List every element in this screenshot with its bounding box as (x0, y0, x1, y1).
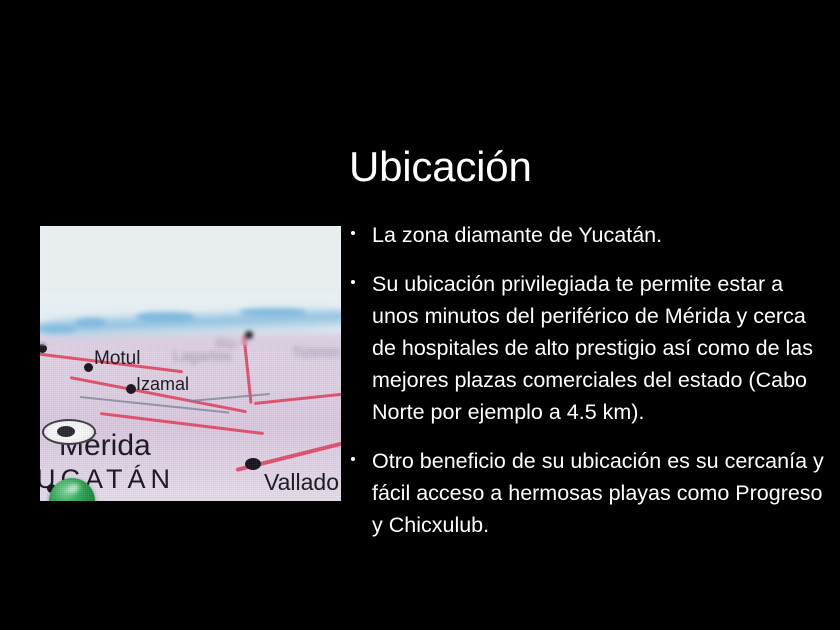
map-label-lagartos: Lagartos (173, 348, 231, 365)
bullet-line: mejores plazas comerciales del estado (C… (372, 364, 840, 396)
bullet-line: La zona diamante de Yucatán. (372, 219, 840, 251)
map-canvas: Río Lagartos Tizimín Motul Izamal Mérida… (40, 226, 341, 501)
map-pin-hole (57, 426, 75, 437)
map-label-izamal: Izamal (136, 374, 189, 395)
list-item: La zona diamante de Yucatán. (349, 219, 840, 251)
map-dot-valladolid (245, 458, 261, 470)
map-dot-rio-lagartos (245, 331, 253, 339)
bullet-dot-icon (351, 231, 355, 235)
page-title: Ubicación (349, 142, 532, 192)
map-label-valladolid: Vallado (264, 469, 339, 496)
bullet-line: Norte por ejemplo a 4.5 km). (372, 396, 840, 428)
bullet-line: de hospitales de alto prestigio así como… (372, 332, 840, 364)
bullet-line: Otro beneficio de su ubicación es su cer… (372, 445, 840, 477)
list-item: Su ubicación privilegiada te permite est… (349, 268, 840, 428)
bullet-line: fácil acceso a hermosas playas como Prog… (372, 477, 840, 509)
map-dot-izamal (126, 384, 136, 394)
map-inlet-west (42, 326, 76, 333)
bullet-dot-icon (351, 457, 355, 461)
map-inlet-lagoon (136, 312, 194, 322)
map-dot-motul (84, 363, 93, 372)
list-item: Otro beneficio de su ubicación es su cer… (349, 445, 840, 541)
map-image[interactable]: Río Lagartos Tizimín Motul Izamal Mérida… (40, 226, 341, 501)
map-inlet-mid (76, 318, 106, 327)
bullet-line: unos minutos del periférico de Mérida y … (372, 300, 840, 332)
map-inlet-east (240, 308, 306, 316)
bullet-line: y Chicxulub. (372, 509, 840, 541)
slide-body: La zona diamante de Yucatán. Su ubicació… (349, 219, 840, 541)
bullet-line: Su ubicación privilegiada te permite est… (372, 268, 840, 300)
bullet-dot-icon (351, 280, 355, 284)
presentation-slide: Río Lagartos Tizimín Motul Izamal Mérida… (0, 0, 840, 630)
map-label-motul: Motul (94, 348, 140, 370)
map-label-tizimin: Tizimín (292, 344, 340, 361)
